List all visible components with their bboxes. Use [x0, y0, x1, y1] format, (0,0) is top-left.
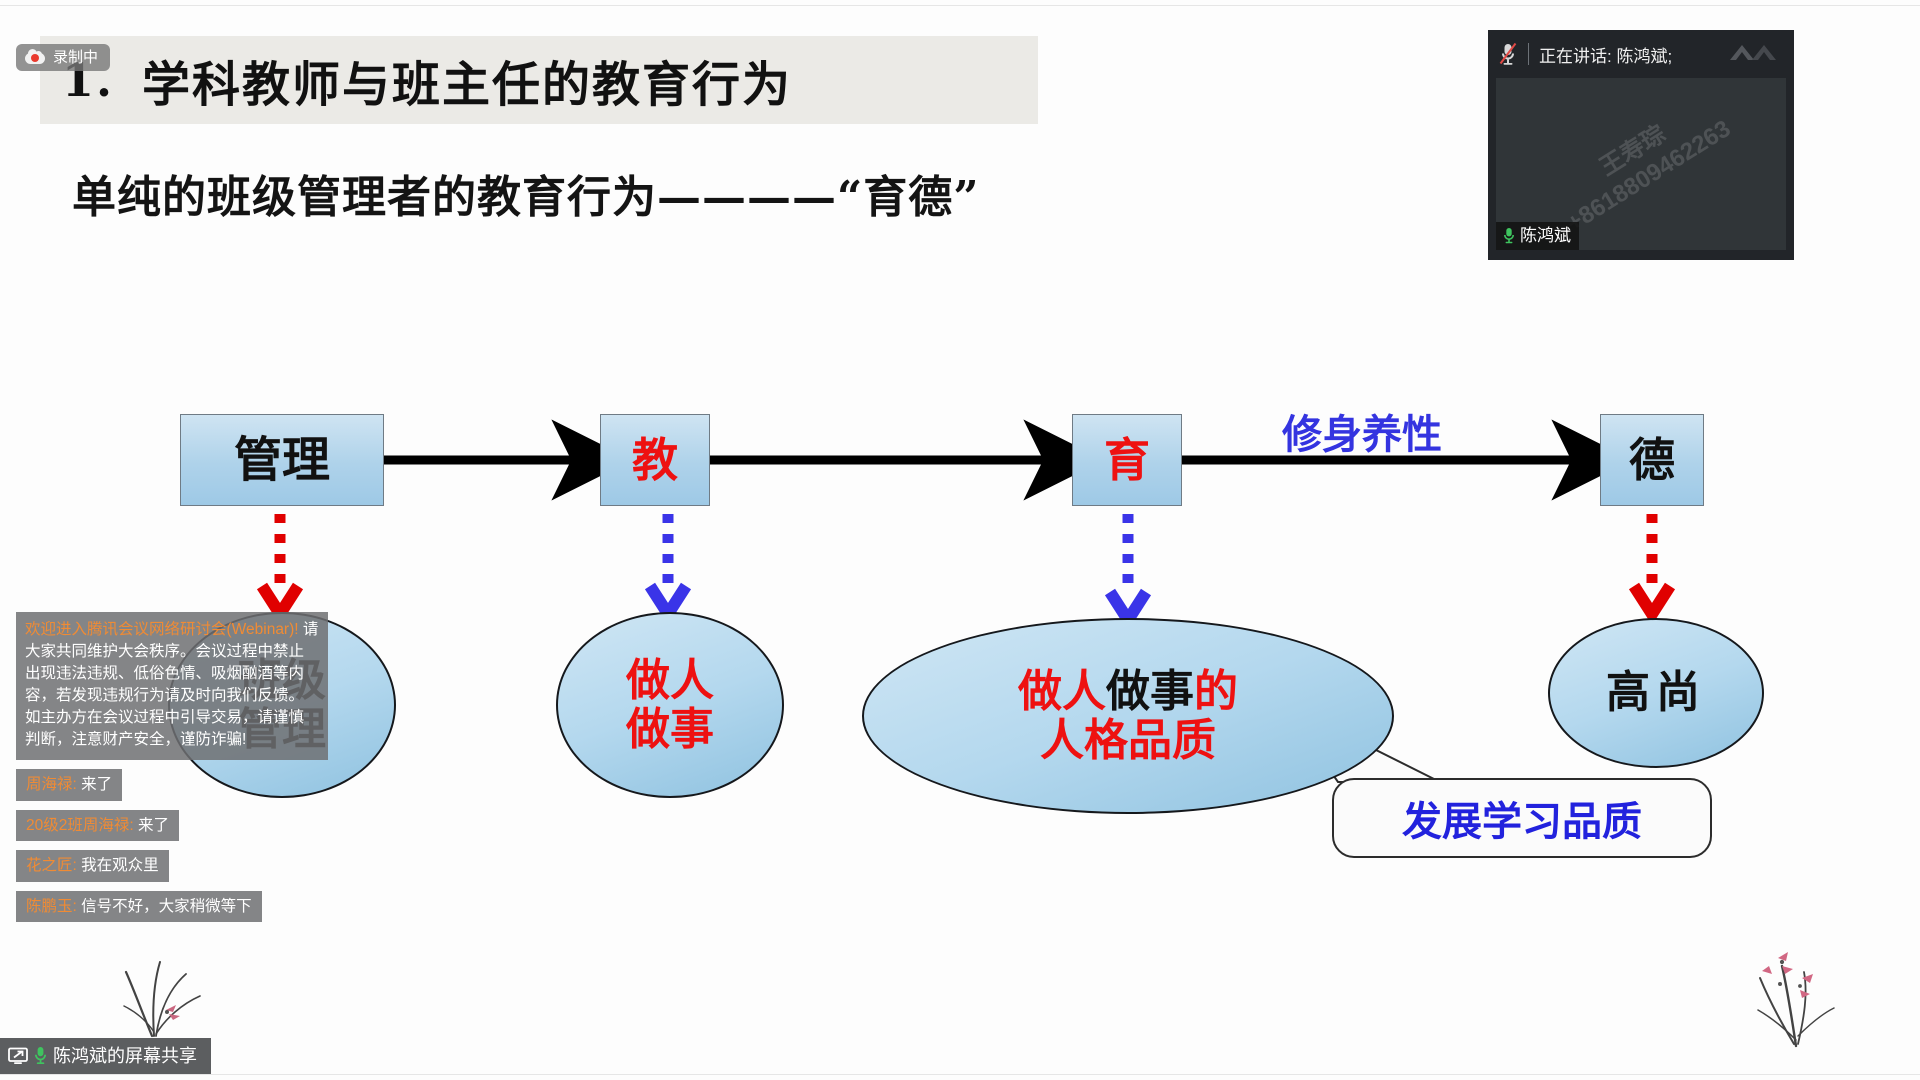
mic-muted-icon[interactable]: [1498, 42, 1518, 66]
chat-sender: 20级2班周海禄:: [26, 817, 134, 834]
chat-message: 陈鹏玉: 信号不好，大家稍微等下: [16, 891, 262, 923]
ellipse4-line1: 高尚: [1606, 668, 1706, 717]
node-ellipse-gaoshang[interactable]: 高尚: [1548, 618, 1764, 768]
mic-on-icon: [33, 1046, 48, 1065]
screen-share-icon: [8, 1047, 28, 1065]
node-ellipse-zuoren-zuoshi[interactable]: 做人 做事: [556, 612, 784, 798]
chat-message: 20级2班周海禄: 来了: [16, 810, 179, 842]
video-panel-header: 正在讲话: 陈鸿斌;: [1488, 30, 1794, 78]
participant-video-tile[interactable]: 王寿琮 +8618809462263 陈鸿斌: [1496, 78, 1786, 250]
chat-text: 来了: [138, 817, 169, 834]
title-label: 学科教师与班主任的教育行为: [142, 45, 792, 115]
video-watermark: 王寿琮 +8618809462263: [1546, 89, 1737, 239]
chat-text: 我在观众里: [81, 857, 159, 874]
participant-name: 陈鸿斌: [1520, 227, 1571, 244]
webinar-notice: 欢迎进入腾讯会议网络研讨会(Webinar)! 请大家共同维护大会秩序。会议过程…: [16, 612, 328, 760]
slide-subtitle: 单纯的班级管理者的教育行为————“育德”: [72, 161, 980, 225]
bottom-divider: [0, 1074, 1920, 1075]
screen-share-label: 陈鸿斌的屏幕共享: [53, 1047, 197, 1065]
node-box-guanli-label: 管理: [234, 436, 330, 484]
participant-name-badge: 陈鸿斌: [1496, 222, 1579, 250]
ellipse2-line1: 做人: [626, 656, 714, 705]
mic-on-icon: [1502, 227, 1516, 244]
webinar-notice-heading: 欢迎进入腾讯会议网络研讨会(Webinar)!: [25, 621, 299, 638]
recording-badge-label: 录制中: [53, 50, 98, 65]
screen-share-status-bar: 陈鸿斌的屏幕共享: [0, 1038, 211, 1074]
node-box-yu[interactable]: 育: [1072, 414, 1182, 506]
node-box-jiao[interactable]: 教: [600, 414, 710, 506]
header-divider: [1528, 43, 1529, 65]
chat-sender: 陈鹏玉:: [26, 898, 77, 915]
chat-message: 花之匠: 我在观众里: [16, 850, 169, 882]
ellipse3-line1: 做人做事的: [1018, 667, 1238, 716]
ellipse3-seg3: 的: [1194, 666, 1238, 717]
speaking-label: 正在讲话: 陈鸿斌;: [1539, 42, 1672, 67]
screen-share-canvas: 1. 学科教师与班主任的教育行为 单纯的班级管理者的教育行为————“育德”: [0, 0, 1920, 1080]
node-box-de-label: 德: [1629, 437, 1675, 483]
recording-badge[interactable]: 录制中: [16, 44, 110, 71]
chat-text: 来了: [81, 776, 112, 793]
flow-label-xiushenyangxing: 修身养性: [1282, 402, 1442, 460]
node-box-guanli[interactable]: 管理: [180, 414, 384, 506]
callout-fazhan-xuexi-pinzhi[interactable]: 发展学习品质: [1332, 778, 1712, 858]
video-panel[interactable]: 正在讲话: 陈鸿斌; 王寿琮 +8618809462263: [1488, 30, 1794, 260]
node-box-jiao-label: 教: [632, 437, 678, 483]
chat-sender: 花之匠:: [26, 857, 77, 874]
ink-orchid-icon: [112, 946, 222, 1038]
chat-overlay: 欢迎进入腾讯会议网络研讨会(Webinar)! 请大家共同维护大会秩序。会议过程…: [16, 612, 346, 922]
node-box-de[interactable]: 德: [1600, 414, 1704, 506]
tencent-meeting-logo-icon: [1728, 40, 1786, 68]
ellipse2-line2: 做事: [626, 705, 714, 754]
chat-text: 信号不好，大家稍微等下: [81, 898, 252, 915]
ellipse3-seg1: 做人: [1018, 666, 1106, 717]
ink-plum-orchid-icon: [1738, 944, 1856, 1048]
webinar-notice-body: 请大家共同维护大会秩序。会议过程中禁止出现违法违规、低俗色情、吸烟酗酒等内容，若…: [25, 621, 318, 748]
dashed-down-arrows: [262, 514, 1670, 620]
node-box-yu-label: 育: [1104, 437, 1150, 483]
chat-sender: 周海禄:: [26, 776, 77, 793]
page-title: 1. 学科教师与班主任的教育行为: [62, 36, 1062, 124]
chat-message: 周海禄: 来了: [16, 769, 122, 801]
ellipse3-line2: 人格品质: [1040, 716, 1216, 765]
node-ellipse-renge-pinzhi[interactable]: 做人做事的 人格品质: [862, 618, 1394, 814]
ellipse3-seg2: 做事: [1106, 666, 1194, 717]
cloud-record-icon: [25, 51, 45, 65]
